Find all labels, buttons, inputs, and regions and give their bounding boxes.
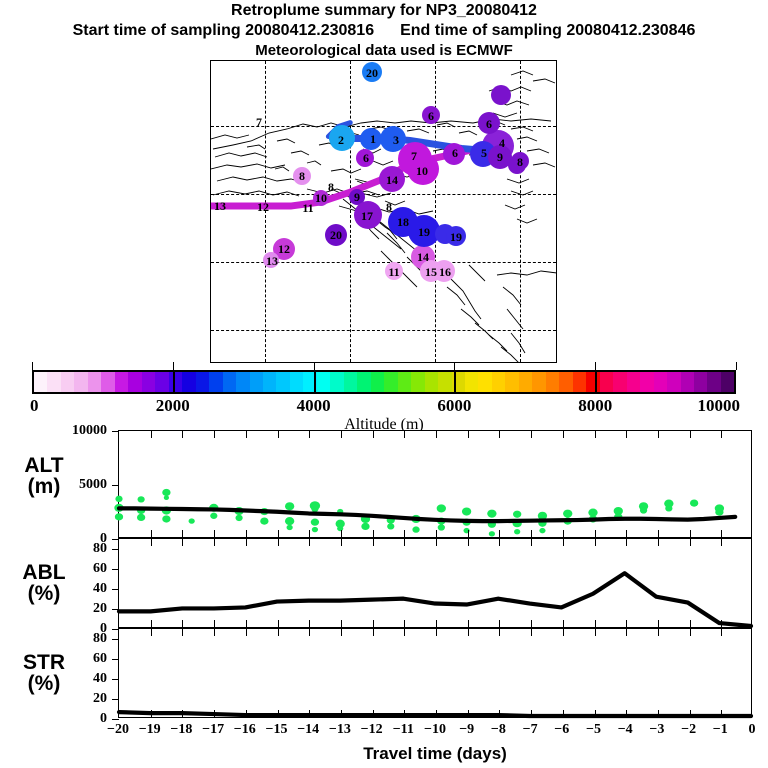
x-axis-tick-top [499, 629, 500, 636]
x-axis-tick-label: −9 [459, 722, 474, 738]
colorbar-segment [411, 372, 424, 392]
x-axis-tick-top [499, 539, 500, 546]
cluster-day-label: 7 [256, 116, 262, 128]
cluster-day-label: 14 [417, 251, 429, 263]
alt-scatter-point [665, 505, 672, 511]
x-axis-tick-label: −11 [393, 722, 414, 738]
alt-scatter-point [539, 528, 545, 533]
colorbar-segment [600, 372, 613, 392]
alt-scatter-point [115, 513, 123, 520]
colorbar-segment [290, 372, 303, 392]
y-axis-tick-label: 80 [93, 631, 107, 647]
x-axis-tick-label: −4 [618, 722, 633, 738]
cluster-day-label: 13 [214, 200, 226, 212]
cluster-day-label: 2 [338, 134, 344, 146]
x-axis-tick-top [563, 539, 564, 546]
colorbar-tick [454, 362, 455, 370]
colorbar-segment [169, 372, 182, 392]
alt-scatter-point [437, 504, 446, 512]
x-axis-tick-top [658, 431, 659, 438]
colorbar-segment [465, 372, 478, 392]
colorbar-segment [142, 372, 155, 392]
x-axis-tick [436, 710, 437, 717]
cluster-day-label: 8 [328, 181, 334, 193]
x-axis-tick-top [690, 431, 691, 438]
colorbar-segment [34, 372, 47, 392]
x-axis-tick-top [373, 539, 374, 546]
colorbar-segment [263, 372, 276, 392]
str-plot-area [119, 629, 751, 717]
x-axis-tick-top [214, 431, 215, 438]
x-axis-tick-label: −2 [681, 722, 696, 738]
alt-scatter-point [514, 529, 520, 534]
x-axis-tick [468, 710, 469, 717]
x-axis-tick [658, 530, 659, 537]
str-label-line1: STR [8, 652, 80, 673]
colorbar-tick [173, 362, 174, 370]
cluster-day-label: 3 [393, 134, 399, 146]
cluster-day-label: 18 [397, 216, 409, 228]
y-axis-tick [112, 569, 119, 570]
x-axis-tick-top [436, 629, 437, 636]
x-axis-tick [214, 710, 215, 717]
x-axis-tick [468, 530, 469, 537]
x-axis-tick-top [721, 629, 722, 636]
x-axis-tick [626, 620, 627, 627]
x-axis-tick-label: −6 [554, 722, 569, 738]
cluster-day-label: 12 [257, 201, 269, 213]
cluster-day-label: 6 [486, 118, 492, 130]
x-axis-tick-top [436, 431, 437, 438]
colorbar-tick [595, 362, 596, 370]
x-axis-tick-top [563, 629, 564, 636]
x-axis-tick-top [595, 431, 596, 438]
colorbar[interactable] [32, 370, 736, 394]
colorbar-segment [478, 372, 491, 392]
x-axis-tick-label: −20 [107, 722, 129, 738]
x-axis-tick [404, 710, 405, 717]
colorbar-segment [492, 372, 505, 392]
x-axis-tick-top [214, 539, 215, 546]
x-axis-tick [436, 530, 437, 537]
y-axis-tick-label: 60 [93, 561, 107, 577]
x-axis-tick-top [214, 629, 215, 636]
alt-scatter-point [487, 510, 496, 518]
colorbar-segment [250, 372, 263, 392]
str-panel[interactable]: 020406080 [118, 628, 752, 718]
x-axis-tick-top [341, 431, 342, 438]
x-axis-tick [278, 530, 279, 537]
x-axis-tick [246, 710, 247, 717]
x-axis-tick-label: −10 [424, 722, 446, 738]
str-label-line2: (%) [8, 673, 80, 694]
x-axis-tick [309, 620, 310, 627]
colorbar-segment [532, 372, 545, 392]
x-axis-tick-top [563, 431, 564, 438]
colorbar-segment [357, 372, 370, 392]
x-axis-title: Travel time (days) [118, 744, 752, 764]
alt-scatter-point [312, 527, 318, 532]
x-axis-tick-top [595, 629, 596, 636]
x-axis-tick [151, 530, 152, 537]
colorbar-segment [155, 372, 168, 392]
x-axis-tick-top [373, 431, 374, 438]
cluster-day-label: 6 [452, 147, 458, 159]
x-axis-tick [182, 620, 183, 627]
x-axis-tick [658, 710, 659, 717]
cluster-day-label: 4 [499, 137, 505, 149]
alt-scatter-point [189, 518, 195, 523]
x-axis-tick-top [626, 431, 627, 438]
alt-scatter-point [690, 499, 698, 506]
x-axis-tick-top [341, 539, 342, 546]
alt-scatter-point [285, 517, 294, 525]
cluster-day-label: 12 [278, 243, 290, 255]
x-axis-tick-label: −13 [329, 722, 351, 738]
x-axis-tick-label: −15 [266, 722, 288, 738]
x-axis-tick-top [182, 431, 183, 438]
x-axis-tick-top [531, 539, 532, 546]
alt-scatter-point [513, 511, 521, 518]
colorbar-segment [640, 372, 653, 392]
colorbar-segment [330, 372, 343, 392]
x-axis-tick-top [278, 431, 279, 438]
colorbar-segment [546, 372, 559, 392]
x-axis-tick [563, 710, 564, 717]
x-axis-tick [563, 530, 564, 537]
colorbar-segment [384, 372, 397, 392]
alt-scatter-point [489, 531, 495, 536]
alt-scatter-point [438, 524, 445, 530]
x-axis-tick-top [658, 539, 659, 546]
x-axis-tick [595, 710, 596, 717]
x-axis-tick [595, 530, 596, 537]
colorbar-segment [182, 372, 195, 392]
x-axis-tick [278, 710, 279, 717]
x-axis-tick [182, 710, 183, 717]
x-axis-tick [658, 620, 659, 627]
x-axis-tick [278, 620, 279, 627]
alt-panel[interactable]: 0500010000 [118, 430, 752, 538]
x-axis-tick [309, 530, 310, 537]
y-axis-tick [112, 431, 119, 432]
colorbar-segment [276, 372, 289, 392]
alt-label-line1: ALT [8, 455, 80, 476]
x-axis-tick-label: −14 [297, 722, 319, 738]
x-axis-tick [436, 620, 437, 627]
cluster-day-label: 8 [299, 170, 305, 182]
colorbar-tick [32, 362, 33, 370]
x-axis-tick-top [278, 539, 279, 546]
x-axis-tick [373, 710, 374, 717]
x-axis-tick [309, 710, 310, 717]
cluster-day-label: 1 [370, 133, 376, 145]
x-axis-tick [404, 530, 405, 537]
alt-scatter-point [640, 507, 647, 513]
x-axis-tick-top [246, 431, 247, 438]
x-axis-tick-label: −5 [586, 722, 601, 738]
x-axis-tick-top [436, 539, 437, 546]
alt-scatter-point [311, 506, 318, 512]
alt-scatter-point [210, 513, 217, 519]
x-axis-tick [373, 620, 374, 627]
abl-panel[interactable]: 020406080 [118, 538, 752, 628]
x-axis-tick-top [278, 629, 279, 636]
abl-plot-area [119, 539, 751, 627]
colorbar-divider [173, 370, 175, 394]
x-axis-tick-top [182, 539, 183, 546]
x-axis-tick-top [595, 539, 596, 546]
x-axis-tick [563, 620, 564, 627]
x-axis-tick-top [468, 431, 469, 438]
cluster-day-label: 5 [481, 147, 487, 159]
colorbar-segment [586, 372, 599, 392]
alt-scatter-point [361, 523, 369, 530]
colorbar-segment [438, 372, 451, 392]
abl-panel-label: ABL (%) [8, 562, 80, 605]
alt-label-line2: (m) [8, 476, 80, 497]
x-axis-tick-label: −12 [361, 722, 383, 738]
x-axis-tick-top [341, 629, 342, 636]
colorbar-segment [196, 372, 209, 392]
y-axis-tick-label: 60 [93, 651, 107, 667]
colorbar-segment [519, 372, 532, 392]
x-axis-tick-top [626, 539, 627, 546]
colorbar-segment [667, 372, 680, 392]
colorbar-segment [344, 372, 357, 392]
cluster-day-label: 8 [386, 201, 392, 213]
colorbar-segment [61, 372, 74, 392]
x-axis-tick [182, 530, 183, 537]
x-axis-tick [373, 530, 374, 537]
x-axis-tick-top [468, 629, 469, 636]
map-gridline-lat [211, 194, 556, 195]
y-axis-tick-label: 0 [100, 711, 107, 727]
colorbar-tick-label: 10000 [698, 396, 741, 416]
x-axis-tick-top [182, 629, 183, 636]
x-axis-tick-top [404, 431, 405, 438]
colorbar-tick-label: 6000 [437, 396, 471, 416]
x-axis-tick [341, 530, 342, 537]
colorbar-tick-label: 0 [30, 396, 39, 416]
y-axis-tick [112, 639, 119, 640]
x-axis-tick [151, 620, 152, 627]
x-axis-tick-label: −1 [713, 722, 728, 738]
y-axis-tick-label: 20 [93, 691, 107, 707]
map-gridline-lat [211, 330, 556, 331]
cluster-day-label: 10 [315, 192, 327, 204]
colorbar-segment [101, 372, 114, 392]
cluster-day-label: 19 [450, 231, 462, 243]
x-axis-tick-label: −8 [491, 722, 506, 738]
colorbar-segment [47, 372, 60, 392]
x-axis-tick-label: −3 [649, 722, 664, 738]
str-panel-label: STR (%) [8, 652, 80, 695]
map-gridline-lat [211, 126, 556, 127]
x-axis-tick-top [658, 629, 659, 636]
cluster-day-label: 17 [361, 210, 373, 222]
colorbar-segment [707, 372, 720, 392]
x-axis-tick-top [531, 431, 532, 438]
y-axis-tick [112, 609, 119, 610]
colorbar-segment [74, 372, 87, 392]
x-axis-tick [341, 620, 342, 627]
y-axis-tick [112, 549, 119, 550]
alt-scatter-point [137, 514, 145, 521]
colorbar-segment [654, 372, 667, 392]
x-axis-tick-top [721, 539, 722, 546]
x-axis-tick-label: −18 [170, 722, 192, 738]
colorbar-tick-label: 8000 [578, 396, 612, 416]
colorbar-tick [736, 362, 737, 370]
x-axis-tick-top [690, 629, 691, 636]
alt-scatter-point [164, 496, 169, 501]
colorbar-segment [505, 372, 518, 392]
x-axis-tick [595, 620, 596, 627]
colorbar-segment [371, 372, 384, 392]
retroplume-map[interactable]: 1234567891011121314151617181920961014766… [210, 60, 557, 363]
colorbar-segment [209, 372, 222, 392]
x-axis-tick-label: −7 [523, 722, 538, 738]
x-axis-tick-top [309, 629, 310, 636]
colorbar-segment [223, 372, 236, 392]
colorbar-segment [559, 372, 572, 392]
x-axis-tick-top [690, 539, 691, 546]
y-axis-tick [112, 719, 119, 720]
cluster-day-label: 13 [266, 255, 278, 267]
colorbar-container: 0200040006000800010000 Altitude (m) [32, 370, 736, 394]
map-gridline-lon [520, 61, 521, 362]
alt-scatter-point [287, 525, 293, 530]
alt-scatter-point [235, 515, 242, 521]
x-axis-tick-top [626, 629, 627, 636]
colorbar-segment [398, 372, 411, 392]
colorbar-segment [694, 372, 707, 392]
cluster-day-label: 16 [439, 266, 451, 278]
colorbar-segment [613, 372, 626, 392]
colorbar-segment [627, 372, 640, 392]
x-axis-tick-top [151, 629, 152, 636]
y-axis-tick [112, 679, 119, 680]
y-axis-tick [112, 589, 119, 590]
x-axis-tick [721, 710, 722, 717]
alt-scatter-point [563, 510, 572, 518]
cluster-day-label: 20 [366, 67, 378, 79]
alt-scatter-point [115, 496, 122, 502]
cluster-day-label: 9 [354, 191, 360, 203]
cluster-day-label: 9 [497, 151, 503, 163]
x-axis-tick [404, 620, 405, 627]
x-axis-tick [690, 530, 691, 537]
cluster-day-label: 14 [386, 174, 398, 186]
alt-scatter-point [463, 528, 469, 533]
cluster-day-label: 11 [302, 202, 313, 214]
x-axis-tick [468, 620, 469, 627]
x-axis-tick [531, 710, 532, 717]
colorbar-divider [454, 370, 456, 394]
cluster-marker[interactable] [491, 85, 511, 105]
y-axis-tick-label: 20 [93, 601, 107, 617]
alt-scatter-point [285, 502, 294, 510]
x-axis-tick [531, 530, 532, 537]
x-axis-tick-top [373, 629, 374, 636]
x-axis-tick-top [404, 539, 405, 546]
x-axis-tick [499, 710, 500, 717]
colorbar-tick [314, 362, 315, 370]
x-axis-tick-top [309, 431, 310, 438]
x-axis-tick-top [151, 431, 152, 438]
colorbar-segment [128, 372, 141, 392]
colorbar-segment [88, 372, 101, 392]
x-axis-tick-top [151, 539, 152, 546]
x-axis-tick [499, 620, 500, 627]
x-axis-tick-label: −17 [202, 722, 224, 738]
sampling-time-line: Start time of sampling 20080412.230816En… [0, 22, 768, 40]
colorbar-divider [314, 370, 316, 394]
colorbar-segment [573, 372, 586, 392]
x-axis-tick [721, 530, 722, 537]
x-axis-tick-top [404, 629, 405, 636]
start-time-text: Start time of sampling 20080412.230816 [73, 22, 375, 39]
x-axis-tick [626, 710, 627, 717]
x-axis-tick [626, 530, 627, 537]
colorbar-tick-label: 2000 [156, 396, 190, 416]
x-axis-tick [246, 530, 247, 537]
x-axis-tick-label: −16 [234, 722, 256, 738]
y-axis-tick [112, 659, 119, 660]
alt-scatter-point [260, 517, 268, 524]
x-axis-tick [246, 620, 247, 627]
alt-scatter-point [311, 519, 319, 526]
y-axis-tick-label: 40 [93, 581, 107, 597]
colorbar-tick-label: 4000 [297, 396, 331, 416]
cluster-day-label: 15 [425, 266, 437, 278]
colorbar-segment [425, 372, 438, 392]
page-title: Retroplume summary for NP3_20080412 [0, 2, 768, 20]
alt-scatter-point [162, 515, 170, 522]
x-axis-tick [690, 710, 691, 717]
abl-label-line1: ABL [8, 562, 80, 583]
colorbar-segment [721, 372, 734, 392]
cluster-day-label: 19 [418, 226, 430, 238]
y-axis-tick-label: 80 [93, 541, 107, 557]
x-axis-tick-top [246, 539, 247, 546]
colorbar-segment [681, 372, 694, 392]
x-axis-tick [531, 620, 532, 627]
alt-scatter-point [412, 526, 419, 532]
x-axis-tick-top [721, 431, 722, 438]
colorbar-segment [236, 372, 249, 392]
alt-scatter-point [137, 496, 144, 502]
x-axis-tick-label: −19 [139, 722, 161, 738]
x-axis-tick-top [309, 539, 310, 546]
cluster-day-label: 8 [517, 156, 523, 168]
alt-plot-area [119, 431, 751, 537]
end-time-text: End time of sampling 20080412.230846 [400, 22, 695, 39]
abl-line [119, 573, 751, 626]
colorbar-segment [115, 372, 128, 392]
x-axis-tick [151, 710, 152, 717]
cluster-day-label: 7 [411, 150, 417, 162]
x-axis-tick [499, 530, 500, 537]
alt-scatter-point [715, 508, 723, 515]
x-axis-tick [341, 710, 342, 717]
x-axis-tick-label: 0 [749, 722, 756, 738]
x-axis-tick-top [531, 629, 532, 636]
x-axis-tick-top [246, 629, 247, 636]
alt-scatter-point [462, 507, 471, 515]
colorbar-divider [595, 370, 597, 394]
